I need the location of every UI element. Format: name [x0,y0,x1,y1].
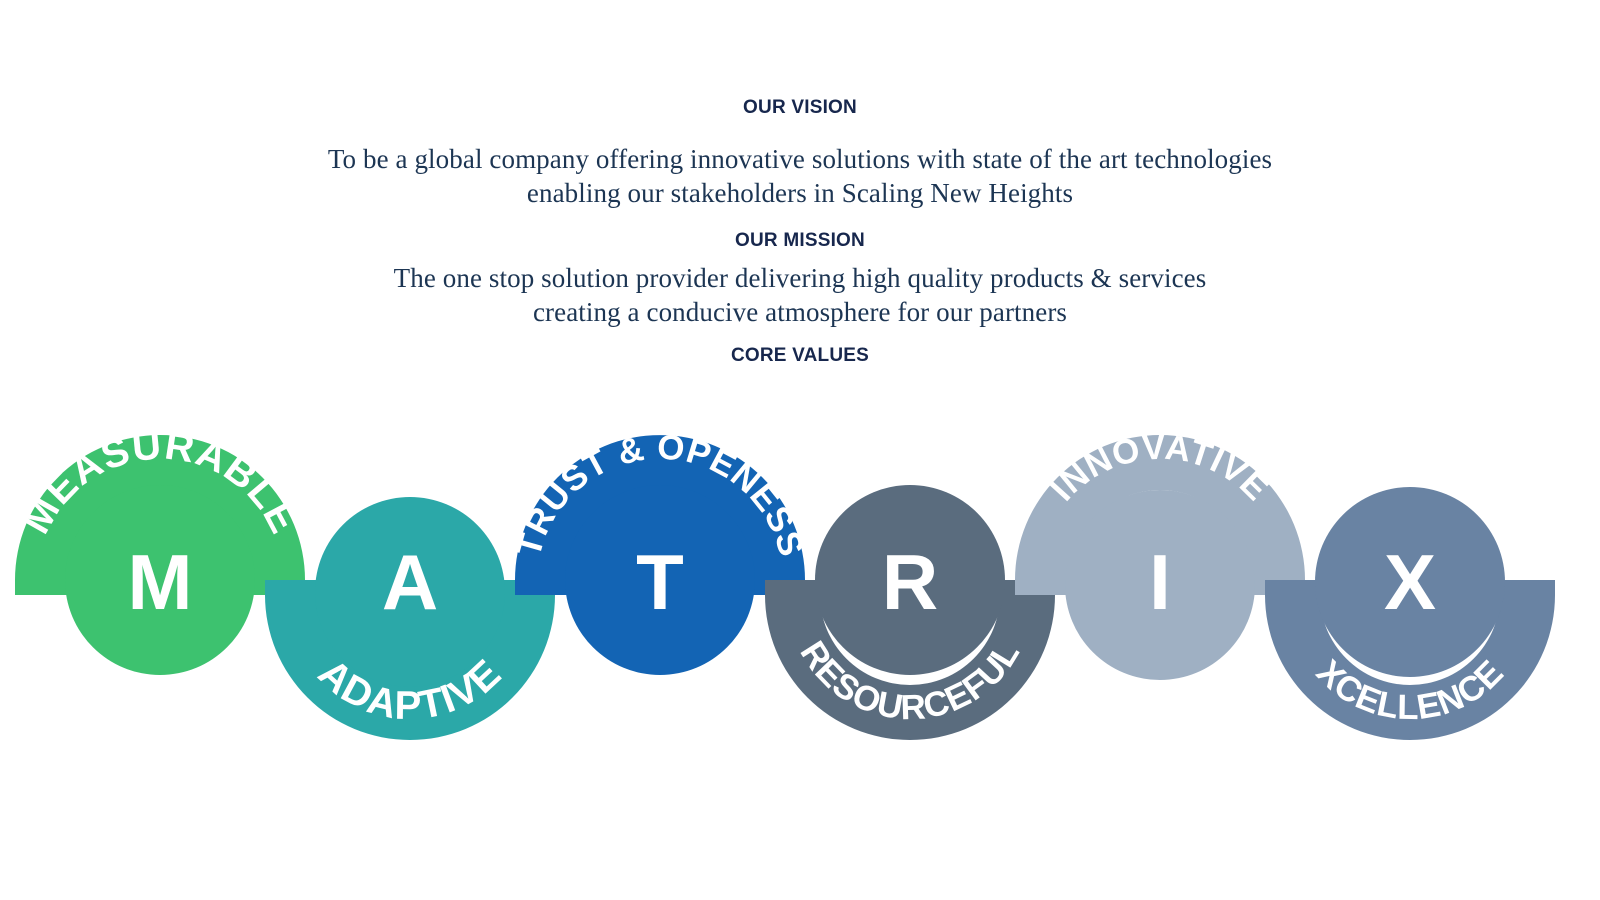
value-item-xcellence[interactable]: XCELLENCE X [1265,487,1555,740]
vision-body-line-1: To be a global company offering innovati… [0,142,1600,177]
vision-mission-values-text: OUR VISION To be a global company offeri… [0,96,1600,367]
value-item-adaptive[interactable]: ADAPTIVE A [265,497,555,740]
trust-openess-letter: T [636,538,684,626]
matrix-diagram-svg: MEASURABLE M ADAPTIVE A TRUST & OPENESS [0,400,1600,780]
core-values-heading: CORE VALUES [0,344,1600,368]
value-item-resourceful[interactable]: RESOURCEFUL R [765,485,1055,740]
xcellence-letter: X [1384,538,1436,626]
spacer-core [0,330,1600,344]
value-item-trust-openess[interactable]: TRUST & OPENESS T [509,427,811,675]
innovative-letter: I [1149,538,1171,626]
value-item-innovative[interactable]: INNOVATIVE I [1015,428,1305,680]
spacer-mission [0,211,1600,229]
mission-body: The one stop solution provider deliverin… [0,261,1600,330]
matrix-wave-diagram: MEASURABLE M ADAPTIVE A TRUST & OPENESS [0,400,1600,780]
mission-body-line-1: The one stop solution provider deliverin… [0,261,1600,296]
adaptive-letter: A [382,538,438,626]
page-root: OUR VISION To be a global company offeri… [0,0,1600,900]
vision-body-line-2: enabling our stakeholders in Scaling New… [0,176,1600,211]
vision-body: To be a global company offering innovati… [0,142,1600,211]
vision-heading: OUR VISION [0,96,1600,120]
mission-heading: OUR MISSION [0,229,1600,253]
mission-body-line-2: creating a conducive atmosphere for our … [0,295,1600,330]
spacer-mission-body [0,253,1600,261]
value-item-measurable[interactable]: MEASURABLE M [14,423,306,675]
spacer-vision [0,120,1600,142]
resourceful-letter: R [882,538,938,626]
measurable-letter: M [128,538,193,626]
